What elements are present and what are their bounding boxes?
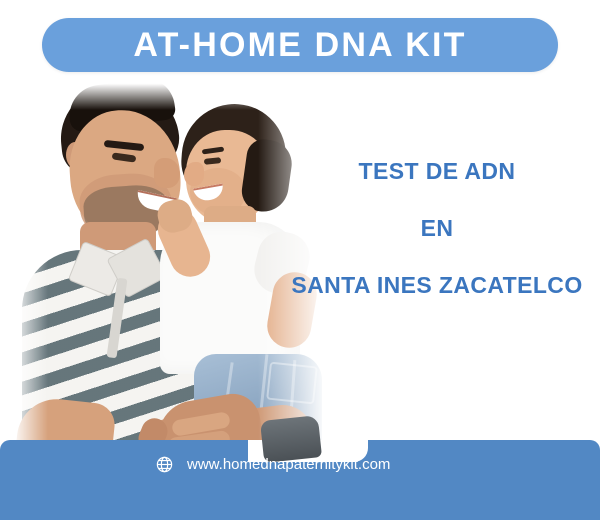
phone-text: 1-877-219-4485 <box>32 2 139 17</box>
headline-line-3: SANTA INES ZACATELCO <box>282 274 592 297</box>
headline-line-1: TEST DE ADN <box>282 160 592 183</box>
headline-block: TEST DE ADN EN SANTA INES ZACATELCO <box>282 160 592 297</box>
header-badge: AT-HOME DNA KIT <box>42 18 558 72</box>
phone-icon <box>0 0 19 19</box>
photo-fade-left <box>8 82 48 460</box>
promo-banner: AT-HOME DNA KIT <box>0 0 600 520</box>
footer-email[interactable]: info@homednapaternitykit.com <box>169 0 410 19</box>
footer-phone[interactable]: 1-877-219-4485 <box>0 0 139 19</box>
footer-website[interactable]: www.homednapaternitykit.com <box>155 455 390 474</box>
envelope-icon <box>169 0 190 19</box>
globe-icon <box>155 455 174 474</box>
website-text: www.homednapaternitykit.com <box>187 457 390 472</box>
footer-contact-row: 1-877-219-4485 info@homednapaternitykit.… <box>0 0 600 19</box>
man-nose <box>154 158 180 188</box>
child-nose <box>184 162 204 186</box>
header-badge-label: AT-HOME DNA KIT <box>133 28 466 62</box>
email-text: info@homednapaternitykit.com <box>203 2 410 17</box>
headline-line-2: EN <box>282 217 592 240</box>
